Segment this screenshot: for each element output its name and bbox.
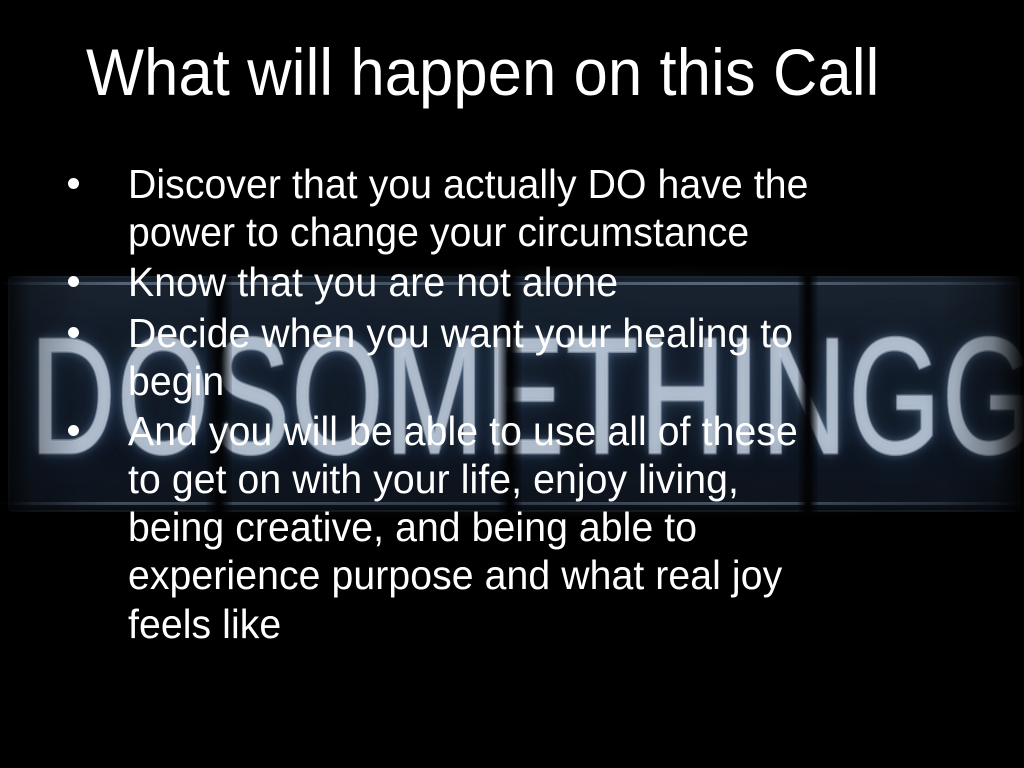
bullet-text: Decide when you want your healing to beg… [128,309,839,405]
list-item: Know that you are not alone [58,258,938,306]
slide-bullet-list: Discover that you actually DO have the p… [58,160,938,690]
bullet-dot-icon [68,276,79,287]
list-item: Decide when you want your healing to beg… [58,309,938,405]
bullet-dot-icon [68,425,79,436]
bullet-dot-icon [68,327,79,338]
bullet-dot-icon [68,178,79,189]
bullet-text: And you will be able to use all of these… [128,407,839,648]
list-item: And you will be able to use all of these… [58,407,938,648]
bullet-text: Discover that you actually DO have the p… [128,160,839,256]
presentation-slide: DO SOMETHING GREAT What will happen on t… [0,0,1024,768]
list-item: Discover that you actually DO have the p… [58,160,938,256]
bullet-text: Know that you are not alone [128,258,839,306]
slide-title: What will happen on this Call [86,38,923,107]
